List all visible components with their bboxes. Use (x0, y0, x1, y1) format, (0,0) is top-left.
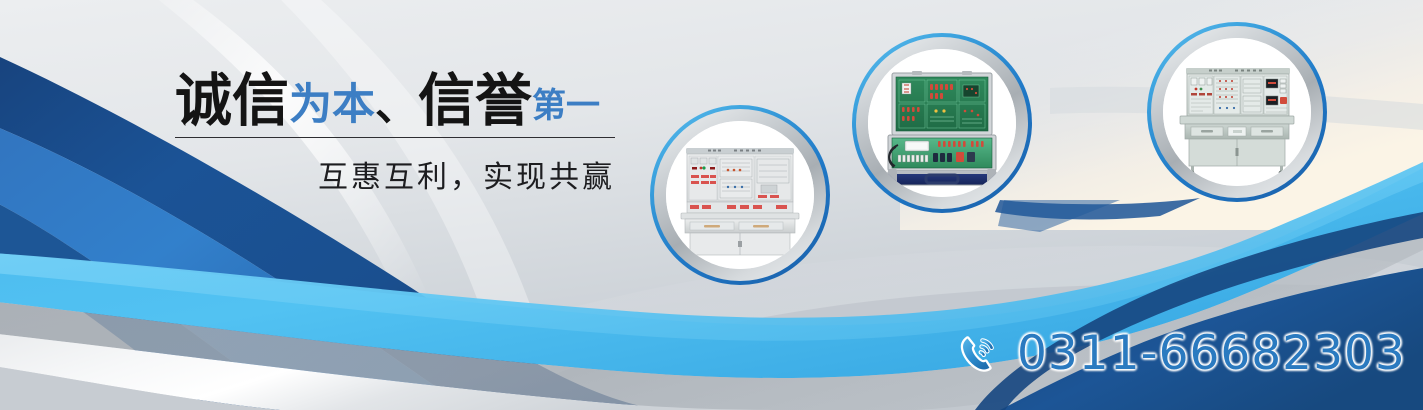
product-circle-2[interactable] (852, 33, 1032, 213)
headline-part-3: 信誉 (418, 68, 532, 134)
control-console-bench-icon (1163, 38, 1311, 186)
phone-number[interactable]: 0311-66682303 (1017, 326, 1406, 381)
subtitle: 互惠互利，实现共赢 (175, 138, 615, 196)
product-circle-1[interactable] (650, 105, 830, 285)
page-title: 诚信为本、信誉第一 (175, 72, 625, 131)
headline-block: 诚信为本、信誉第一 互惠互利，实现共赢 (175, 72, 625, 196)
promo-banner: 诚信为本、信誉第一 互惠互利，实现共赢 (0, 0, 1423, 410)
headline-separator: 、 (375, 81, 418, 131)
portable-training-case-icon (868, 49, 1016, 197)
phone-call-icon (955, 330, 1003, 378)
contact-block[interactable]: 0311-66682303 (955, 326, 1406, 381)
product-circle-3[interactable] (1147, 22, 1327, 202)
headline-part-2: 为本 (289, 80, 375, 130)
headline-part-1: 诚信 (175, 68, 289, 134)
lab-workbench-icon (666, 121, 814, 269)
headline-part-4: 第一 (532, 86, 600, 126)
